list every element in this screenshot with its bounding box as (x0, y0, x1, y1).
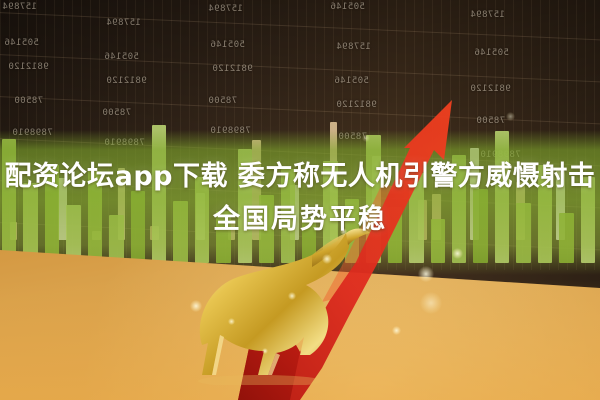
headline-line-2: 全国局势平稳 (0, 198, 600, 241)
banner-image: 1578945051469812120785007898910157894505… (0, 0, 600, 400)
golden-bull-statue (150, 225, 380, 385)
headline-text: 配资论坛app下载 委方称无人机引警方威慑射击 全国局势平稳 (0, 155, 600, 241)
headline-line-1: 配资论坛app下载 委方称无人机引警方威慑射击 (0, 155, 600, 198)
